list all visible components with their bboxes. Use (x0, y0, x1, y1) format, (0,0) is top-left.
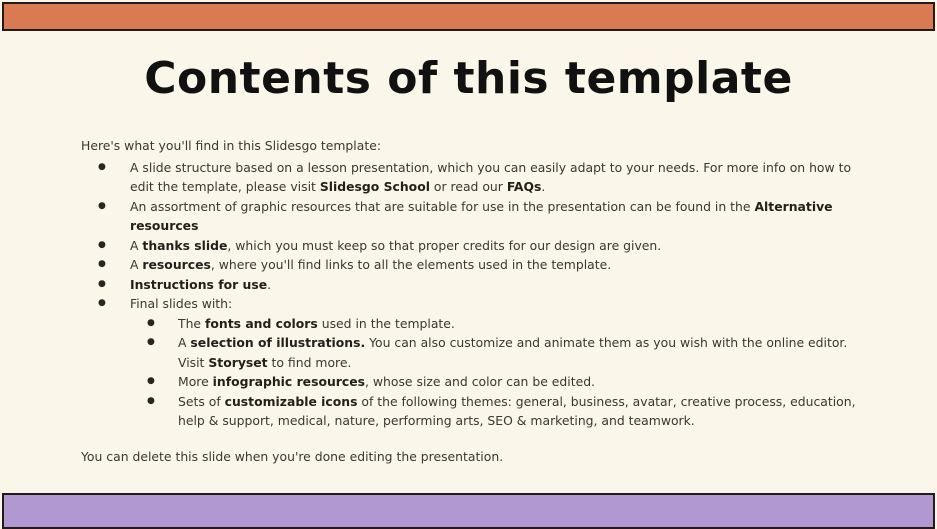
top-decoration-bar (2, 2, 935, 31)
list-item: A resources, where you'll find links to … (81, 255, 857, 275)
slide-body: Here's what you'll find in this Slidesgo… (81, 136, 857, 466)
bottom-decoration-bar (2, 493, 935, 529)
list-item-text: A selection of illustrations. You can al… (178, 335, 847, 370)
intro-paragraph: Here's what you'll find in this Slidesgo… (81, 136, 857, 156)
list-item: The fonts and colors used in the templat… (130, 314, 857, 334)
outro-paragraph: You can delete this slide when you're do… (81, 447, 857, 467)
list-item-text: Final slides with: (130, 296, 232, 311)
list-item: A slide structure based on a lesson pres… (81, 158, 857, 197)
contents-list: A slide structure based on a lesson pres… (81, 158, 857, 431)
list-item: A selection of illustrations. You can al… (130, 333, 857, 372)
list-item-text: A resources, where you'll find links to … (130, 257, 611, 272)
list-item-text: An assortment of graphic resources that … (130, 199, 833, 234)
list-item-text: The fonts and colors used in the templat… (178, 316, 455, 331)
list-item: A thanks slide, which you must keep so t… (81, 236, 857, 256)
list-item: An assortment of graphic resources that … (81, 197, 857, 236)
list-item: Sets of customizable icons of the follow… (130, 392, 857, 431)
list-item-text: Instructions for use. (130, 277, 271, 292)
list-item: More infographic resources, whose size a… (130, 372, 857, 392)
list-item-text: More infographic resources, whose size a… (178, 374, 595, 389)
page-title: Contents of this template (0, 57, 937, 101)
list-item-text: A slide structure based on a lesson pres… (130, 160, 851, 195)
list-item-text: A thanks slide, which you must keep so t… (130, 238, 661, 253)
contents-sublist: The fonts and colors used in the templat… (130, 314, 857, 431)
list-item: Instructions for use. (81, 275, 857, 295)
slide-canvas: Contents of this template Here's what yo… (0, 0, 937, 527)
list-item-text: Sets of customizable icons of the follow… (178, 394, 856, 429)
list-item: Final slides with:The fonts and colors u… (81, 294, 857, 431)
